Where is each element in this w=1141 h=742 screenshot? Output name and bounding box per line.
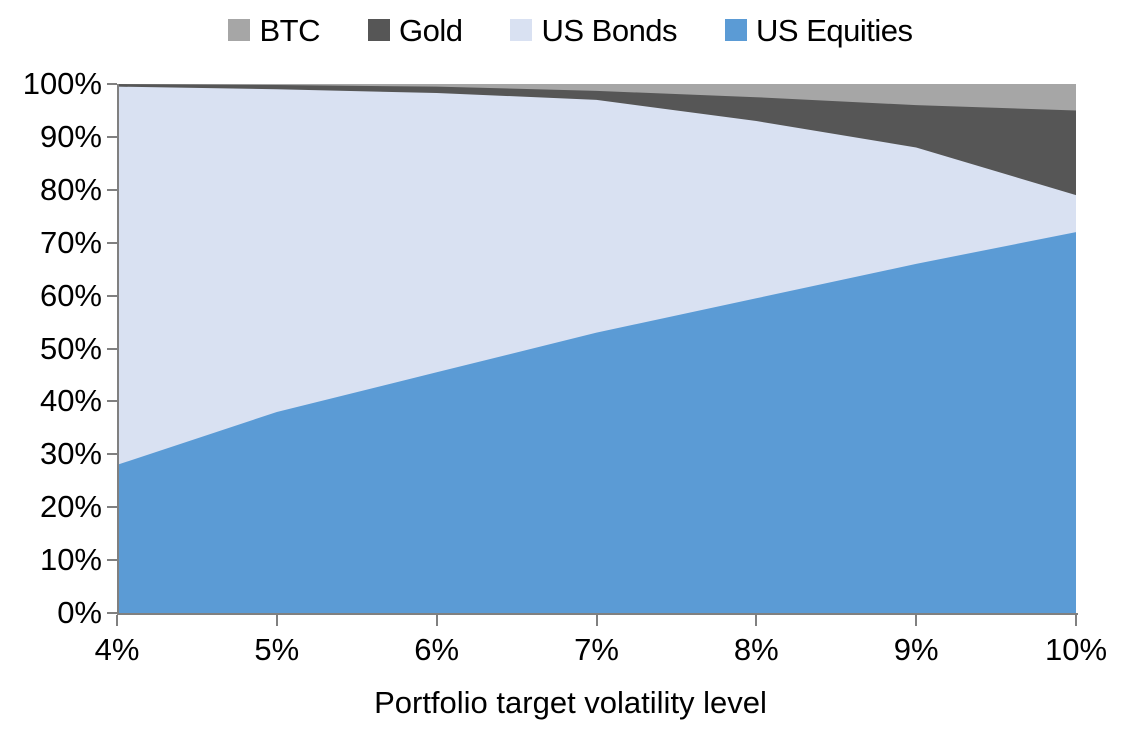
x-axis-title: Portfolio target volatility level bbox=[0, 686, 1141, 720]
y-axis-tick bbox=[107, 136, 117, 138]
y-axis-label: 0% bbox=[2, 597, 102, 628]
x-axis-tick bbox=[1075, 615, 1077, 626]
legend-item-us-bonds[interactable]: US Bonds bbox=[510, 15, 677, 46]
y-axis-tick bbox=[107, 189, 117, 191]
y-axis-tick bbox=[107, 348, 117, 350]
legend-label-btc: BTC bbox=[259, 15, 320, 46]
x-axis-tick bbox=[436, 615, 438, 626]
y-axis-label: 30% bbox=[2, 438, 102, 469]
area-series-svg bbox=[117, 84, 1076, 613]
stacked-area-chart: BTC Gold US Bonds US Equities 0%10%20%30… bbox=[0, 0, 1141, 742]
legend-label-us-bonds: US Bonds bbox=[541, 15, 677, 46]
y-axis-tick bbox=[107, 83, 117, 85]
x-axis-tick bbox=[755, 615, 757, 626]
x-axis-tick bbox=[276, 615, 278, 626]
y-axis-label: 80% bbox=[2, 174, 102, 205]
legend-swatch-gold bbox=[368, 19, 390, 41]
x-axis-tick bbox=[596, 615, 598, 626]
y-axis-label: 60% bbox=[2, 280, 102, 311]
x-axis-tick bbox=[116, 615, 118, 626]
y-axis-tick bbox=[107, 242, 117, 244]
y-axis-tick bbox=[107, 506, 117, 508]
legend-swatch-us-equities bbox=[725, 19, 747, 41]
x-axis-label: 10% bbox=[1011, 634, 1141, 665]
x-axis-tick bbox=[915, 615, 917, 626]
x-axis-label: 6% bbox=[372, 634, 502, 665]
legend-label-gold: Gold bbox=[399, 15, 462, 46]
y-axis-tick bbox=[107, 453, 117, 455]
legend-item-us-equities[interactable]: US Equities bbox=[725, 15, 912, 46]
y-axis-tick bbox=[107, 400, 117, 402]
y-axis-label: 100% bbox=[2, 68, 102, 99]
y-axis-label: 90% bbox=[2, 121, 102, 152]
x-axis-label: 9% bbox=[851, 634, 981, 665]
chart-legend: BTC Gold US Bonds US Equities bbox=[0, 8, 1141, 52]
plot-area bbox=[117, 84, 1076, 613]
legend-swatch-btc bbox=[228, 19, 250, 41]
x-axis-label: 7% bbox=[532, 634, 662, 665]
legend-item-gold[interactable]: Gold bbox=[368, 15, 462, 46]
y-axis-label: 10% bbox=[2, 544, 102, 575]
legend-label-us-equities: US Equities bbox=[756, 15, 912, 46]
legend-item-btc[interactable]: BTC bbox=[228, 15, 320, 46]
y-axis-line bbox=[117, 84, 119, 614]
x-axis-label: 4% bbox=[52, 634, 182, 665]
y-axis-tick bbox=[107, 559, 117, 561]
y-axis-label: 20% bbox=[2, 491, 102, 522]
y-axis-label: 50% bbox=[2, 333, 102, 364]
y-axis-label: 40% bbox=[2, 385, 102, 416]
x-axis-line bbox=[117, 613, 1078, 615]
legend-swatch-us-bonds bbox=[510, 19, 532, 41]
x-axis-label: 8% bbox=[691, 634, 821, 665]
y-axis-tick bbox=[107, 612, 117, 614]
x-axis-label: 5% bbox=[212, 634, 342, 665]
y-axis-tick bbox=[107, 295, 117, 297]
y-axis-label: 70% bbox=[2, 227, 102, 258]
